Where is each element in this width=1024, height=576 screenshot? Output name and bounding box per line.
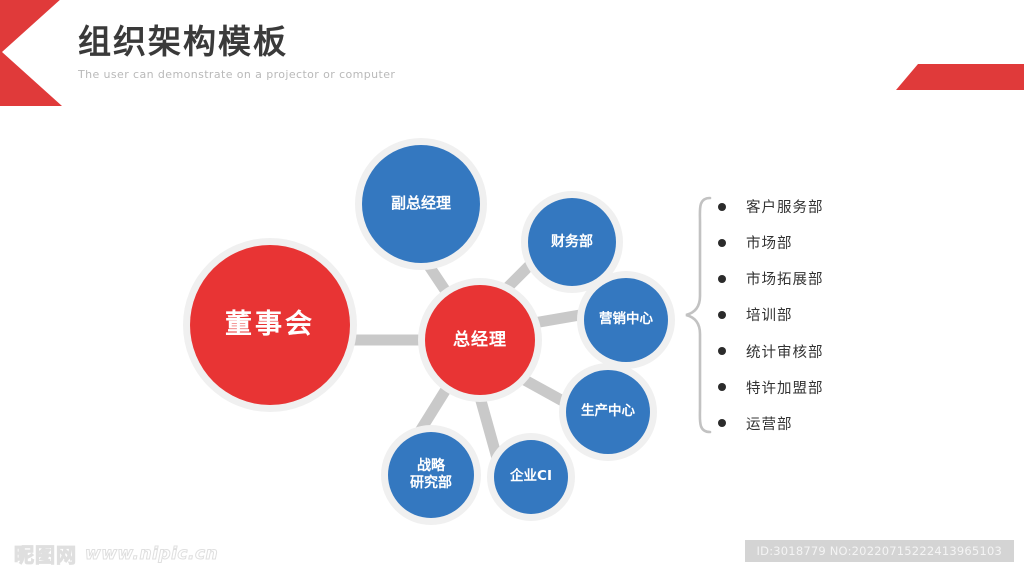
node-deputy-general-manager[interactable]: 副总经理 xyxy=(362,145,480,263)
org-chart-diagram: 董事会 总经理 副总经理 财务部 营销中心 生产中心 企业CI 战略 研究部 xyxy=(0,100,700,520)
node-label: 总经理 xyxy=(453,330,507,350)
list-item[interactable]: 运营部 xyxy=(718,413,938,434)
page-header: 组织架构模板 The user can demonstrate on a pro… xyxy=(78,20,395,81)
page-title: 组织架构模板 xyxy=(78,20,395,64)
list-item-label: 运营部 xyxy=(746,413,793,434)
node-label: 战略 研究部 xyxy=(410,458,452,491)
curly-brace-icon xyxy=(684,196,714,434)
list-item[interactable]: 特许加盟部 xyxy=(718,377,938,398)
watermark-url: www.nipic.cn xyxy=(85,544,218,564)
node-strategy-research-department[interactable]: 战略 研究部 xyxy=(388,432,474,518)
node-board-of-directors[interactable]: 董事会 xyxy=(190,245,350,405)
list-item-label: 培训部 xyxy=(746,304,793,325)
bullet-icon xyxy=(718,203,726,211)
image-id-badge: ID:3018779 NO:20220715222413965103 xyxy=(745,540,1014,562)
node-finance-department[interactable]: 财务部 xyxy=(528,198,616,286)
list-item[interactable]: 客户服务部 xyxy=(718,196,938,217)
node-label: 企业CI xyxy=(510,469,552,485)
bullet-icon xyxy=(718,347,726,355)
list-item[interactable]: 市场部 xyxy=(718,232,938,253)
node-general-manager[interactable]: 总经理 xyxy=(425,285,535,395)
node-corporate-ci[interactable]: 企业CI xyxy=(494,440,568,514)
node-label: 营销中心 xyxy=(599,312,653,328)
list-item[interactable]: 培训部 xyxy=(718,304,938,325)
list-item[interactable]: 市场拓展部 xyxy=(718,268,938,289)
watermark-brand: 昵图网 xyxy=(14,539,77,568)
list-item-label: 客户服务部 xyxy=(746,196,824,217)
node-label: 财务部 xyxy=(551,234,593,251)
list-item-label: 市场拓展部 xyxy=(746,268,824,289)
node-label: 生产中心 xyxy=(581,404,635,420)
node-marketing-center[interactable]: 营销中心 xyxy=(584,278,668,362)
node-label: 董事会 xyxy=(225,309,315,341)
site-watermark: 昵图网 www.nipic.cn xyxy=(14,539,218,568)
list-item-label: 市场部 xyxy=(746,232,793,253)
list-item[interactable]: 统计审核部 xyxy=(718,341,938,362)
department-list: 客户服务部 市场部 市场拓展部 培训部 统计审核部 特许加盟部 运营部 xyxy=(684,196,944,436)
bullet-icon xyxy=(718,383,726,391)
list-item-label: 统计审核部 xyxy=(746,341,824,362)
page-subtitle: The user can demonstrate on a projector … xyxy=(78,68,395,81)
top-right-bar-decoration xyxy=(896,64,1024,90)
bullet-icon xyxy=(718,311,726,319)
department-list-items: 客户服务部 市场部 市场拓展部 培训部 统计审核部 特许加盟部 运营部 xyxy=(718,196,938,434)
bullet-icon xyxy=(718,239,726,247)
bullet-icon xyxy=(718,419,726,427)
node-production-center[interactable]: 生产中心 xyxy=(566,370,650,454)
bullet-icon xyxy=(718,275,726,283)
node-label: 副总经理 xyxy=(391,195,451,213)
list-item-label: 特许加盟部 xyxy=(746,377,824,398)
